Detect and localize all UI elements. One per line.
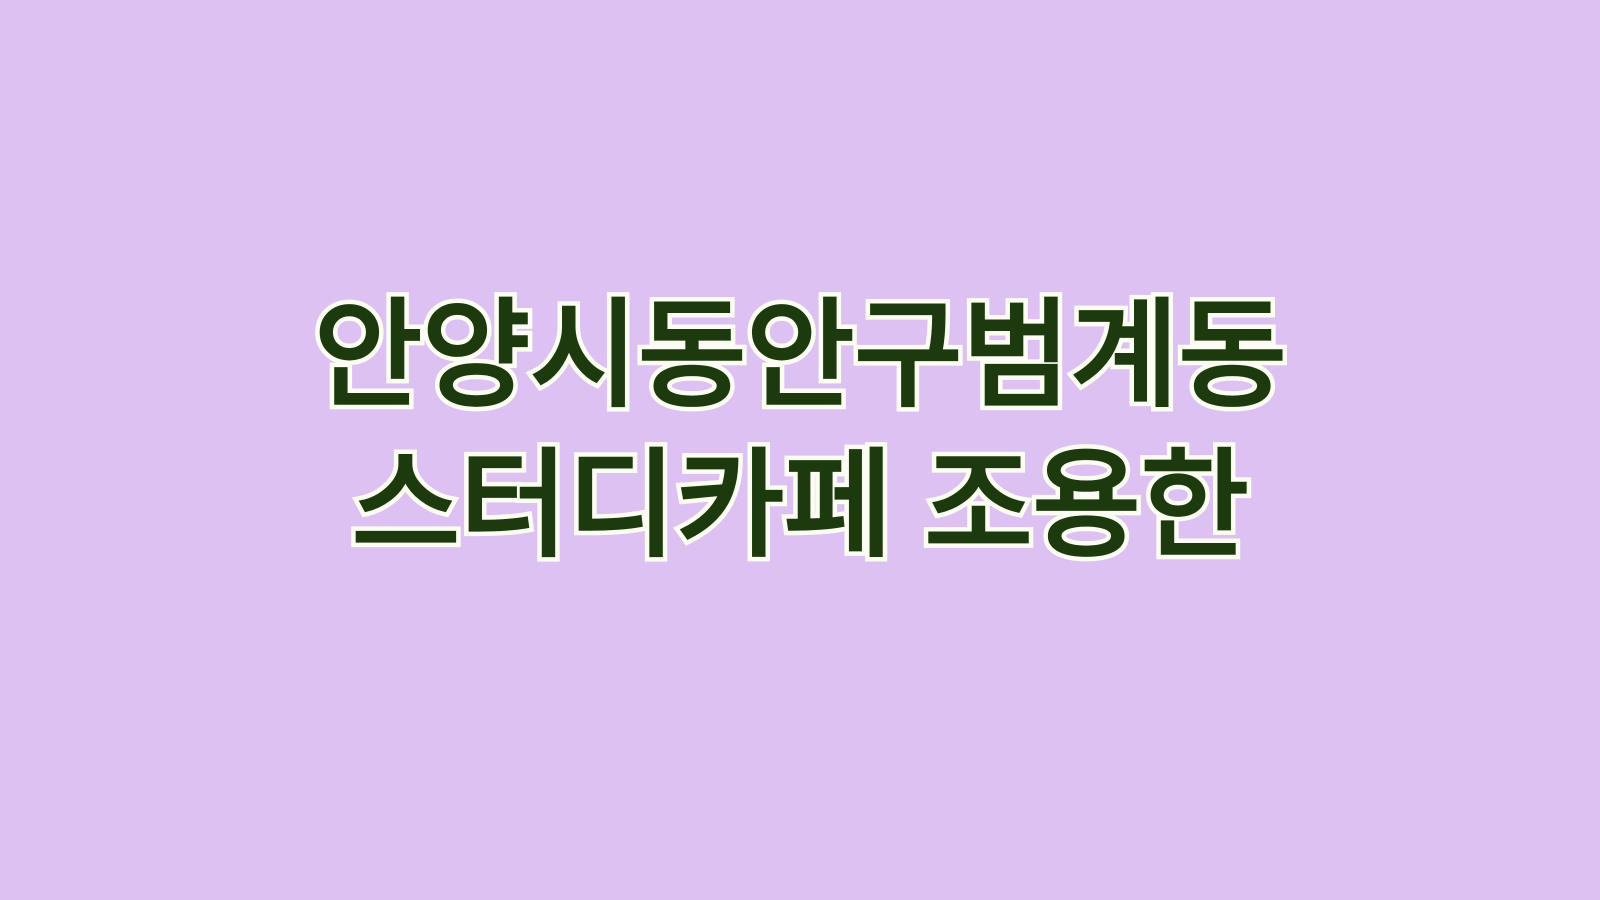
- headline-line-2: 스터디카페 조용한: [0, 435, 1600, 579]
- headline-line-1: 안양시동안구범계동: [0, 285, 1600, 429]
- headline-text-block: 안양시동안구범계동 스터디카페 조용한: [0, 285, 1600, 579]
- thumbnail-canvas: 안양시동안구범계동 스터디카페 조용한: [0, 0, 1600, 900]
